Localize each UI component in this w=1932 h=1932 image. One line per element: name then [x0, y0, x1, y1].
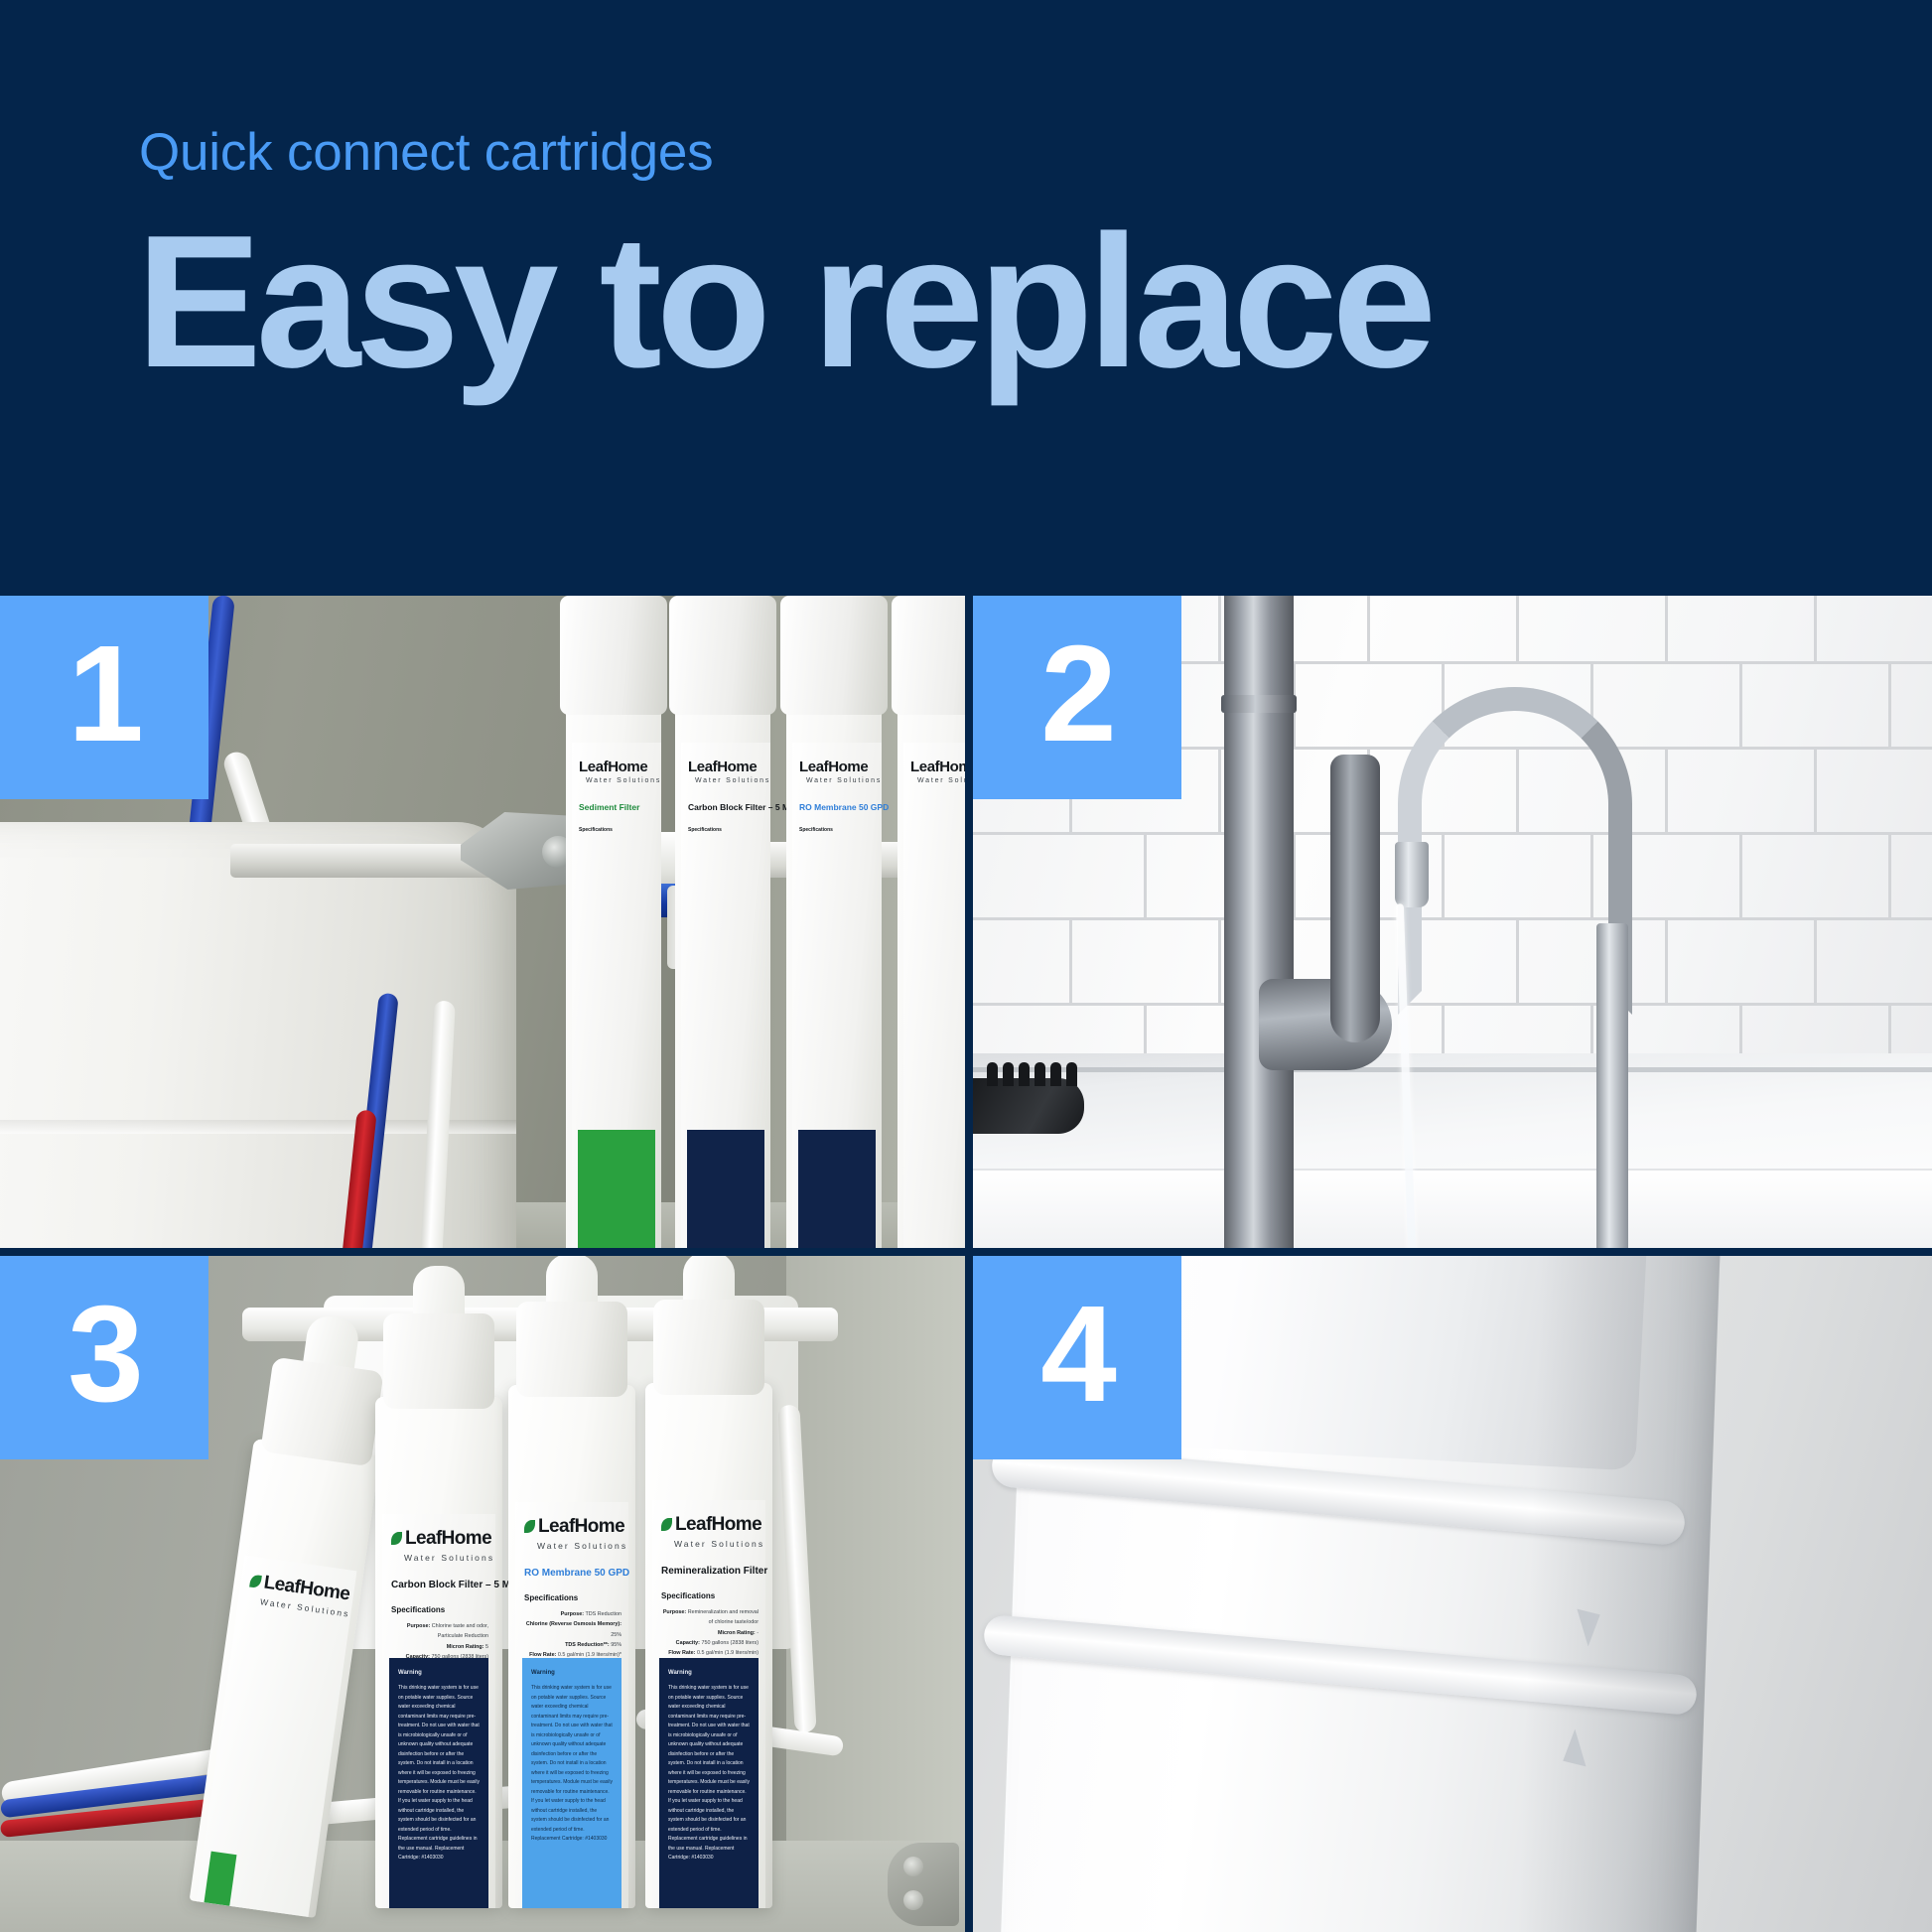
brand-name-2: LeafHome — [688, 759, 757, 775]
filter-column-3: LeafHome Water Solutions RO Membrane 50 … — [786, 596, 882, 1248]
spec-heading-3: Specifications — [799, 827, 833, 833]
eyebrow-text: Quick connect cartridges — [139, 122, 713, 183]
filter-label-4: LeafHome Water Solutions — [903, 743, 965, 1248]
brand-name: LeafHome — [405, 1528, 491, 1549]
step-number-1: 1 — [68, 625, 141, 762]
filter-cap-3 — [780, 596, 888, 715]
cartridge-head-4 — [653, 1300, 764, 1395]
main-kitchen-faucet — [1224, 596, 1294, 1248]
cartridge-label-4: LeafHome Water Solutions Remineralizatio… — [652, 1500, 765, 1908]
faucet-collar — [1221, 695, 1297, 713]
product-name-remineralization: Remineralization Filter — [661, 1566, 767, 1577]
brand-name-4: LeafHome — [910, 759, 965, 775]
brand-lockup-2: LeafHome — [391, 1528, 491, 1550]
product-name-3: RO Membrane 50 GPD — [799, 802, 889, 812]
brand-tagline-3: Water Solutions — [806, 777, 882, 784]
step-3-photo: LeafHome Water Solutions LeafHome Water … — [0, 1256, 965, 1932]
product-name-2: Carbon Block Filter – 5 Mic — [688, 802, 796, 812]
cartridge-carbon-block[interactable]: LeafHome Water Solutions Carbon Block Fi… — [375, 1397, 502, 1908]
promo-graphic: Quick connect cartridges Easy to replace… — [0, 0, 1932, 1932]
closeup-shading — [1513, 1256, 1723, 1932]
product-name-ro-membrane: RO Membrane 50 GPD — [524, 1568, 629, 1579]
faucet-lever-handle[interactable] — [1330, 755, 1380, 1042]
cabinet-back-wall — [786, 1256, 965, 1932]
cartridge-label-3: LeafHome Water Solutions RO Membrane 50 … — [515, 1502, 628, 1908]
brand-tagline-1: Water Solutions — [586, 777, 661, 784]
spec-heading-3: Specifications — [524, 1593, 578, 1602]
step-number-3: 3 — [68, 1286, 141, 1423]
filter-bank: LeafHome Water Solutions Sediment Filter… — [566, 596, 965, 1248]
step-badge-3: 3 — [0, 1256, 208, 1459]
step-1-photo: LeafHome Water Solutions Sediment Filter… — [0, 596, 965, 1248]
mounting-plate — [888, 1843, 959, 1926]
filter-label-1: LeafHome Water Solutions Sediment Filter… — [572, 743, 661, 1248]
brand-tagline-3: Water Solutions — [537, 1541, 627, 1551]
warning-text-3: This drinking water system is for use on… — [531, 1685, 613, 1842]
header-banner: Quick connect cartridges Easy to replace — [0, 0, 1932, 596]
warning-text-2: This drinking water system is for use on… — [398, 1685, 480, 1861]
spec-heading-2: Specifications — [391, 1605, 445, 1614]
brand-lockup-4: LeafHome — [661, 1514, 761, 1536]
product-name-1: Sediment Filter — [579, 802, 639, 812]
spec-heading-4: Specifications — [661, 1591, 715, 1600]
cartridge-remineralization[interactable]: LeafHome Water Solutions Remineralizatio… — [645, 1383, 772, 1908]
brand-tagline-4: Water Solutions — [674, 1539, 764, 1549]
sink-edge — [973, 1169, 1932, 1248]
page-title: Easy to replace — [136, 207, 1431, 396]
leaf-icon — [661, 1518, 672, 1531]
warning-panel-4: Warning This drinking water system is fo… — [659, 1658, 759, 1908]
filter-footer-band-1 — [578, 1130, 655, 1248]
spec-block-1: Specifications — [579, 826, 655, 835]
green-color-band — [204, 1852, 236, 1906]
warning-heading-4: Warning — [668, 1668, 750, 1679]
scrub-brush — [973, 1078, 1084, 1134]
product-name-carbon-block: Carbon Block Filter – 5 Mic — [391, 1580, 518, 1590]
step-4-photo: 4 — [973, 1256, 1932, 1932]
brand-name-3: LeafHome — [799, 759, 868, 775]
brand-tagline-2: Water Solutions — [404, 1553, 494, 1563]
cartridge-head-2 — [383, 1313, 494, 1409]
filter-cap-1 — [560, 596, 667, 715]
spec-block-2: Specifications — [688, 826, 764, 835]
filter-label-3: LeafHome Water Solutions RO Membrane 50 … — [792, 743, 882, 1248]
filter-footer-band-2 — [687, 1130, 764, 1248]
ro-faucet-spout — [1395, 842, 1429, 907]
cartridge-ro-membrane[interactable]: LeafHome Water Solutions RO Membrane 50 … — [508, 1385, 635, 1908]
filter-cap-2 — [669, 596, 776, 715]
brand-name: LeafHome — [538, 1516, 624, 1537]
cartridge-head-1 — [260, 1357, 383, 1467]
step-badge-4: 4 — [973, 1256, 1181, 1459]
brand-tagline-4: Water Solutions — [917, 777, 965, 784]
brand-lockup-3: LeafHome — [524, 1516, 624, 1538]
cartridge-head-3 — [516, 1302, 627, 1397]
leaf-icon — [249, 1575, 262, 1588]
filter-footer-band-3 — [798, 1130, 876, 1248]
filter-column-1: LeafHome Water Solutions Sediment Filter… — [566, 596, 661, 1248]
spec-heading-2: Specifications — [688, 827, 722, 833]
warning-heading-3: Warning — [531, 1668, 613, 1679]
spec-heading-1: Specifications — [579, 827, 613, 833]
spec-block-3: Specifications — [799, 826, 876, 835]
step-number-4: 4 — [1040, 1286, 1114, 1423]
cartridge-label-2: LeafHome Water Solutions Carbon Block Fi… — [382, 1514, 495, 1908]
step-badge-2: 2 — [973, 596, 1181, 799]
filter-column-4: LeafHome Water Solutions — [897, 596, 965, 1248]
step-2-photo: 2 — [973, 596, 1932, 1248]
ro-faucet-column — [1596, 923, 1628, 1248]
brand-tagline-2: Water Solutions — [695, 777, 770, 784]
leaf-icon — [391, 1532, 402, 1545]
warning-heading-2: Warning — [398, 1668, 480, 1679]
brand-name-1: LeafHome — [579, 759, 647, 775]
filter-column-2: LeafHome Water Solutions Carbon Block Fi… — [675, 596, 770, 1248]
warning-panel-2: Warning This drinking water system is fo… — [389, 1658, 488, 1908]
leaf-icon — [524, 1520, 535, 1533]
filter-label-2: LeafHome Water Solutions Carbon Block Fi… — [681, 743, 770, 1248]
warning-text-4: This drinking water system is for use on… — [668, 1685, 750, 1861]
brand-name: LeafHome — [675, 1514, 761, 1535]
step-badge-1: 1 — [0, 596, 208, 799]
step-number-2: 2 — [1040, 625, 1114, 762]
filter-cap-4 — [892, 596, 965, 715]
warning-panel-3: Warning This drinking water system is fo… — [522, 1658, 621, 1908]
